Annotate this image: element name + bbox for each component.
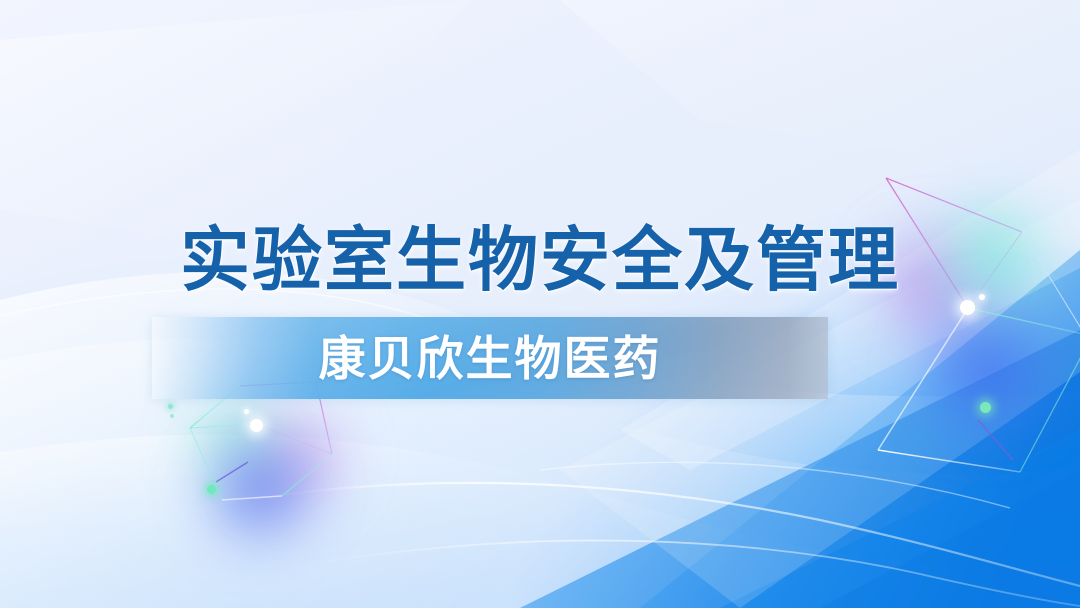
- orb-purple-left: [240, 404, 352, 512]
- wireframe-cube-right: [838, 160, 1080, 500]
- page-title: 实验室生物安全及管理: [0, 225, 1080, 295]
- background-facet-waves: [0, 0, 1080, 608]
- node-dot-left-mint-b: [170, 414, 174, 418]
- presentation-slide: 实验室生物安全及管理 康贝欣生物医药: [0, 0, 1080, 608]
- orb-teal-left: [186, 394, 286, 490]
- background-base-gradient: [0, 0, 1080, 608]
- node-dot-left-main: [250, 419, 263, 432]
- orb-blue-right: [912, 300, 1062, 440]
- wireframe-cube-left: [156, 378, 376, 538]
- orb-blue-left: [196, 432, 322, 550]
- node-dot-right-green: [980, 402, 991, 413]
- node-dot-left-small: [244, 409, 249, 414]
- node-dot-left-green: [207, 485, 216, 494]
- node-dot-left-mint-a: [168, 404, 173, 409]
- background-left-wash: [0, 0, 1080, 608]
- subtitle-text: 康贝欣生物医药: [188, 329, 792, 387]
- node-dot-right-small: [979, 294, 985, 300]
- node-dot-right-main: [960, 300, 975, 315]
- background-blue-corner: [0, 0, 1080, 608]
